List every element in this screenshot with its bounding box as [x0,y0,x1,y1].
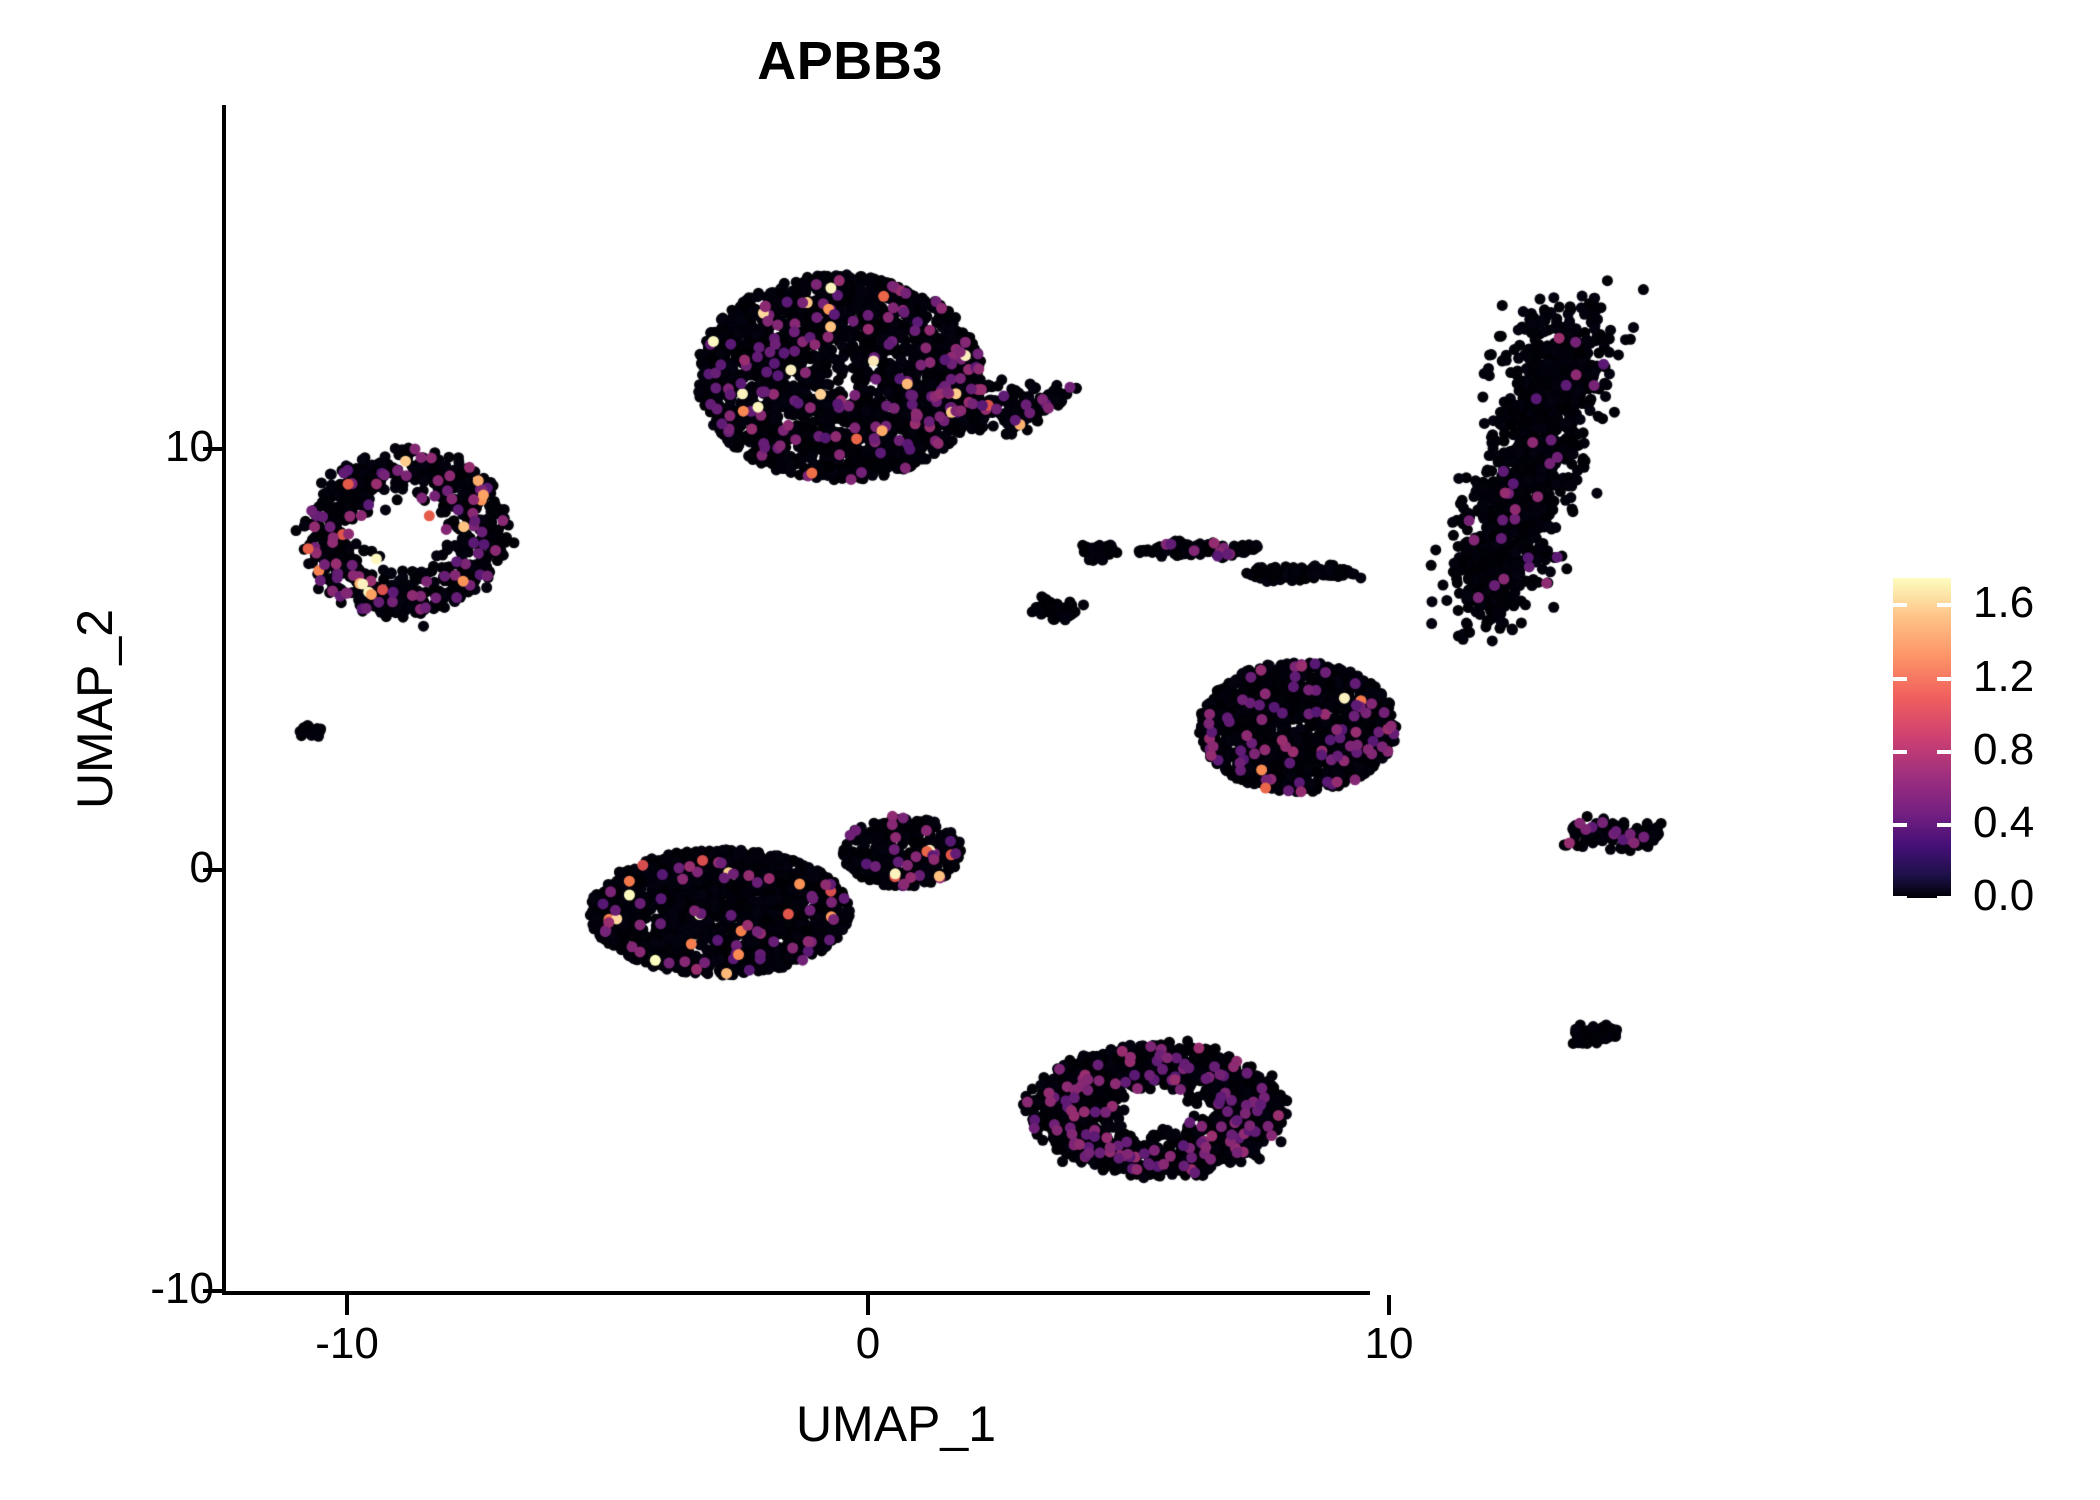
x-tick-label: 10 [1289,1322,1489,1366]
colorbar-tick-label: 1.6 [1973,581,2034,625]
colorbar-tick-mark [1937,750,1951,754]
y-axis-label: UMAP_2 [66,309,124,1109]
x-tick-label: -10 [247,1322,447,1366]
colorbar-tick-label: 1.2 [1973,655,2034,699]
colorbar-gradient [1893,578,1951,898]
y-tick-label: 0 [190,846,214,890]
x-tick-mark [345,1295,349,1315]
colorbar-tick-mark [1893,603,1907,607]
colorbar-tick-label: 0.4 [1973,801,2034,845]
colorbar-tick-mark [1937,823,1951,827]
colorbar-tick-label: 0.0 [1973,874,2034,918]
colorbar-tick-mark [1893,750,1907,754]
x-axis-label: UMAP_1 [496,1395,1296,1453]
y-axis-line [222,105,226,1295]
colorbar-tick-mark [1937,896,1951,900]
colorbar-tick-mark [1893,896,1907,900]
colorbar-tick-mark [1937,677,1951,681]
x-tick-mark [866,1295,870,1315]
scatter-canvas [0,0,2100,1500]
x-tick-mark [1387,1295,1391,1315]
colorbar-tick-mark [1937,603,1951,607]
x-axis-line [222,1291,1370,1295]
scatter-plot-area [0,0,2100,1500]
colorbar-tick-label: 0.8 [1973,728,2034,772]
umap-feature-plot: APBB3 -10010-10010 UMAP_1 UMAP_2 1.61.20… [0,0,2100,1500]
colorbar-tick-mark [1893,677,1907,681]
y-tick-label: 10 [165,425,214,469]
y-tick-label: -10 [150,1267,214,1311]
colorbar-tick-mark [1893,823,1907,827]
x-tick-label: 0 [768,1322,968,1366]
colorbar-legend [1893,578,1951,898]
